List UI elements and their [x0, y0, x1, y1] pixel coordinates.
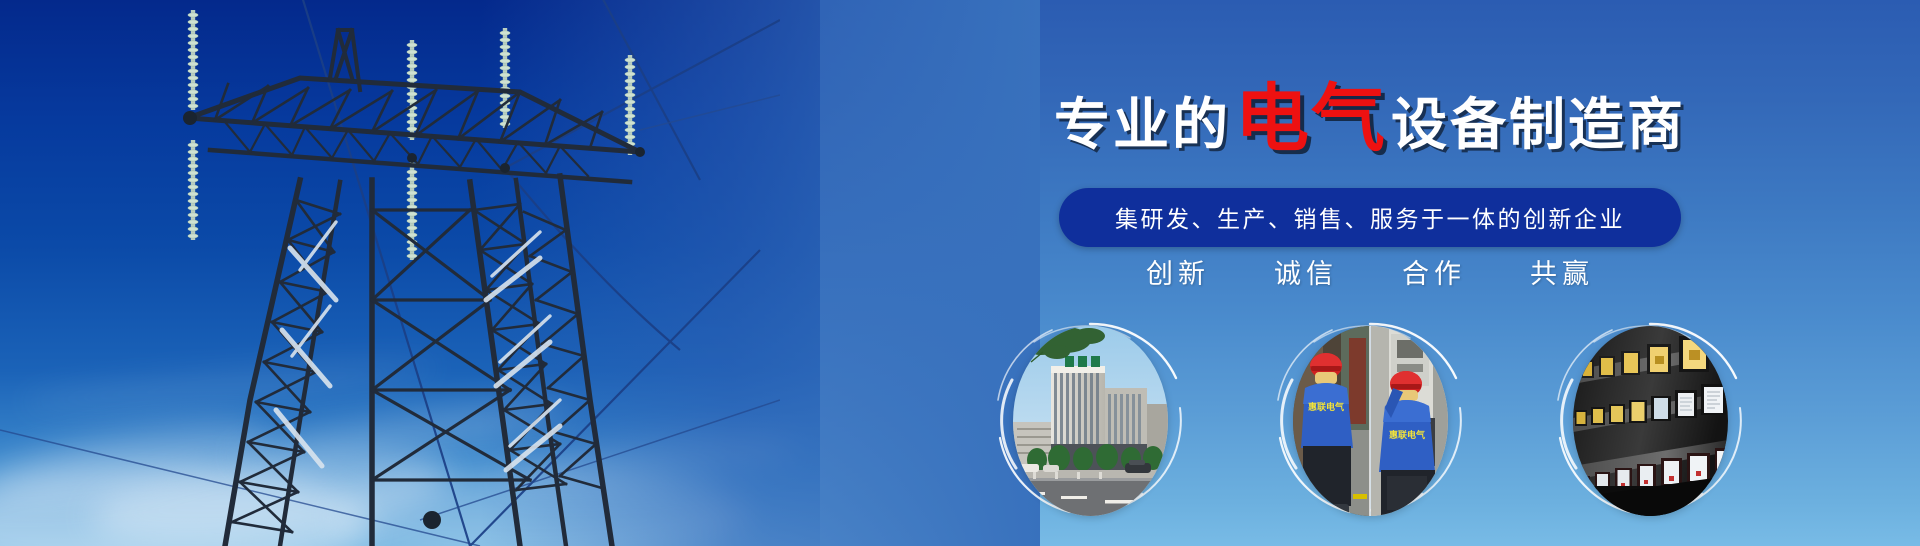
headline-suffix: 设备制造商	[1391, 93, 1686, 156]
banner-content-column: 专业的电气设备制造商 集研发、生产、销售、服务于一体的创新企业 创新诚信合作共赢	[820, 0, 1920, 546]
company-hero-banner: 专业的电气设备制造商 集研发、生产、销售、服务于一体的创新企业 创新诚信合作共赢	[0, 0, 1920, 546]
keyword-item: 诚信	[1274, 252, 1338, 291]
headline-prefix: 专业的	[1054, 93, 1231, 156]
photo-image-office-building	[1013, 326, 1168, 516]
photo-circle-installation-workers[interactable]: 惠联电气	[1270, 318, 1470, 518]
page-title: 专业的电气设备制造商	[820, 82, 1920, 156]
photo-image-installation-workers: 惠联电气	[1293, 326, 1448, 516]
photo-circle-certificate-wall[interactable]	[1550, 318, 1750, 518]
subtitle-pill: 集研发、生产、销售、服务于一体的创新企业	[1059, 188, 1681, 247]
keyword-row: 创新诚信合作共赢	[820, 252, 1920, 291]
photo-image-certificate-wall	[1573, 326, 1728, 516]
photo-circle-office-building[interactable]	[990, 318, 1190, 518]
svg-text:惠联电气: 惠联电气	[1389, 429, 1425, 440]
keyword-item: 共赢	[1530, 252, 1594, 291]
keyword-item: 合作	[1402, 252, 1466, 291]
subtitle-row: 集研发、生产、销售、服务于一体的创新企业	[820, 188, 1920, 247]
svg-text:惠联电气: 惠联电气	[1308, 401, 1344, 412]
headline-accent: 电气	[1235, 77, 1387, 160]
photo-circle-row: 惠联电气	[820, 318, 1920, 518]
transmission-tower-image	[0, 0, 780, 546]
keyword-item: 创新	[1146, 252, 1210, 291]
